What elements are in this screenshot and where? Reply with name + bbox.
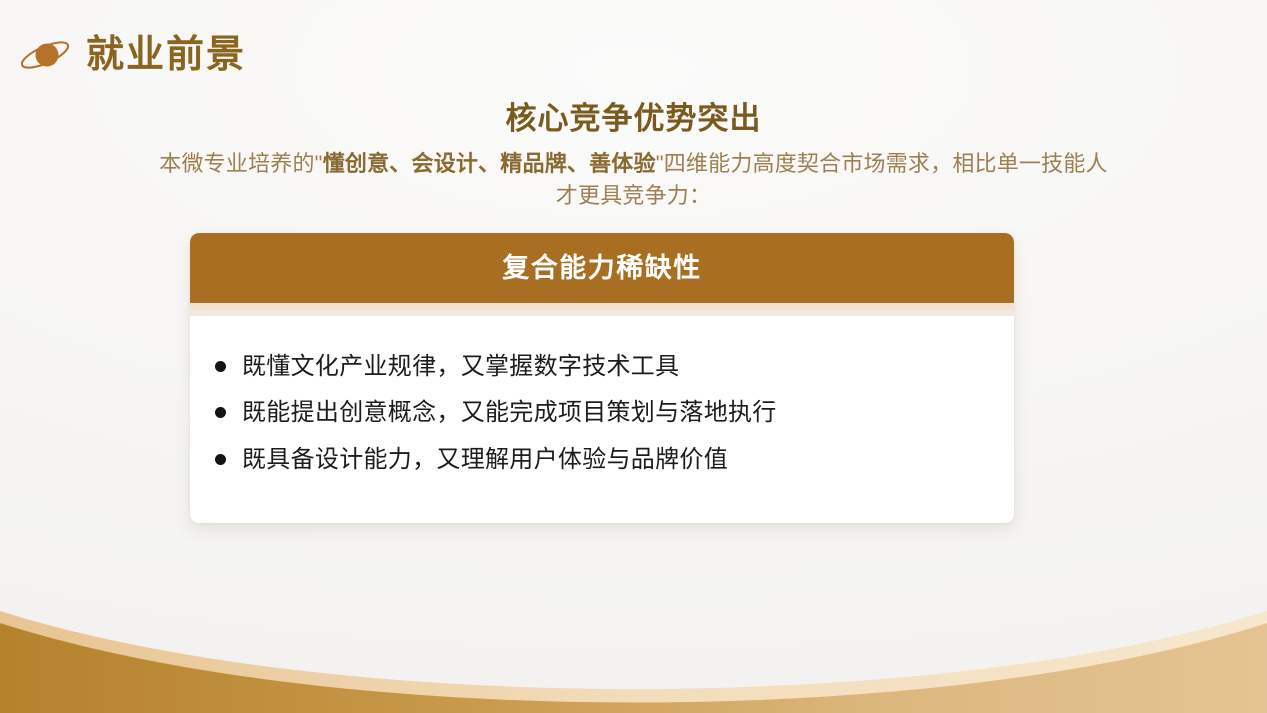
card-header: 复合能力稀缺性 bbox=[190, 233, 1014, 303]
list-item: 既懂文化产业规律，又掌握数字技术工具 bbox=[215, 344, 984, 390]
slide-root: 就业前景 核心竞争优势突出 本微专业培养的"懂创意、会设计、精品牌、善体验"四维… bbox=[0, 0, 1267, 713]
list-item: 既能提出创意概念，又能完成项目策划与落地执行 bbox=[215, 390, 984, 436]
intro-block: 核心竞争优势突出 本微专业培养的"懂创意、会设计、精品牌、善体验"四维能力高度契… bbox=[0, 100, 1267, 212]
list-item-label: 既具备设计能力，又理解用户体验与品牌价值 bbox=[242, 444, 728, 476]
card-body: 既懂文化产业规律，又掌握数字技术工具 既能提出创意概念，又能完成项目策划与落地执… bbox=[190, 316, 1014, 523]
bullet-dot-icon bbox=[215, 361, 226, 372]
bottom-wave-decoration bbox=[0, 583, 1267, 713]
bullet-dot-icon bbox=[215, 407, 226, 418]
wave-band-main bbox=[0, 623, 1267, 713]
intro-heading: 核心竞争优势突出 bbox=[0, 100, 1267, 138]
intro-body-highlight: 懂创意、会设计、精品牌、善体验 bbox=[323, 151, 656, 176]
list-item-label: 既懂文化产业规律，又掌握数字技术工具 bbox=[242, 351, 679, 383]
bullet-dot-icon bbox=[215, 454, 226, 465]
slide-header: 就业前景 bbox=[18, 33, 246, 77]
card-header-title: 复合能力稀缺性 bbox=[502, 255, 702, 282]
bullet-list: 既懂文化产业规律，又掌握数字技术工具 既能提出创意概念，又能完成项目策划与落地执… bbox=[215, 344, 984, 483]
page-title: 就业前景 bbox=[86, 36, 246, 74]
planet-saturn-icon bbox=[18, 33, 72, 77]
intro-body-prefix: 本微专业培养的" bbox=[159, 151, 322, 176]
card-divider-cream bbox=[190, 303, 1014, 310]
intro-body: 本微专业培养的"懂创意、会设计、精品牌、善体验"四维能力高度契合市场需求，相比单… bbox=[154, 148, 1114, 212]
wave-band-light bbox=[0, 611, 1267, 713]
list-item: 既具备设计能力，又理解用户体验与品牌价值 bbox=[215, 437, 984, 483]
list-item-label: 既能提出创意概念，又能完成项目策划与落地执行 bbox=[242, 397, 777, 429]
capability-card: 复合能力稀缺性 既懂文化产业规律，又掌握数字技术工具 既能提出创意概念，又能完成… bbox=[190, 233, 1014, 523]
